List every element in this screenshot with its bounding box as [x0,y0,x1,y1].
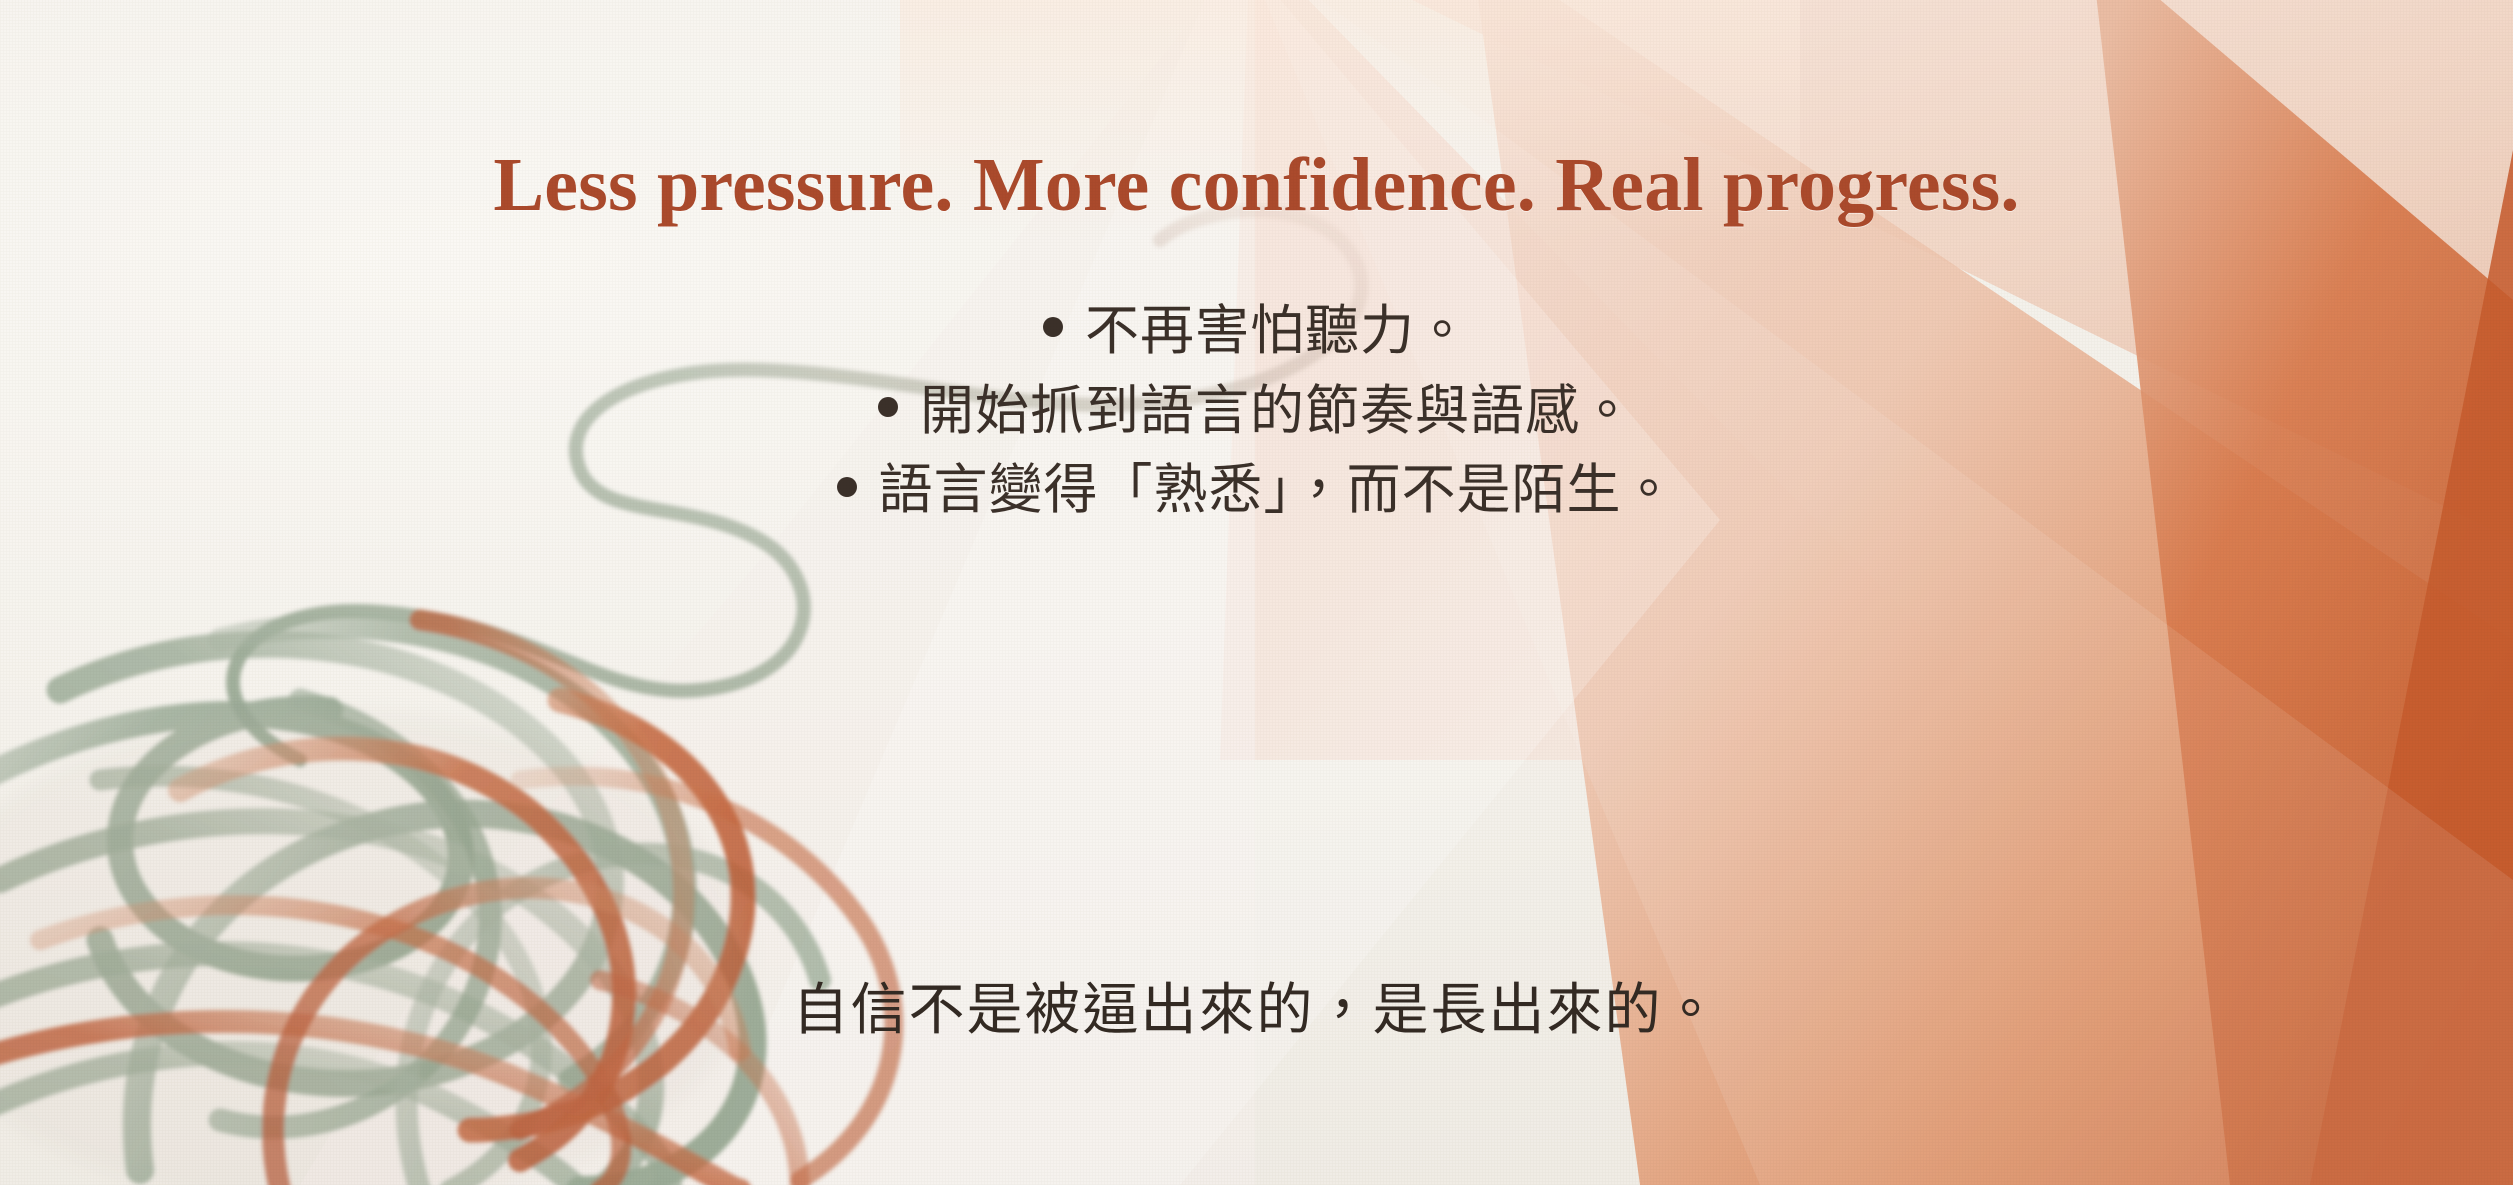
bullet-text: 不再害怕聽力。 [1085,299,1470,362]
page-title: Less pressure. More confidence. Real pro… [0,143,2513,228]
bullet-text: 語言變得「熟悉」，而不是陌生。 [879,458,1677,521]
slide-canvas: Less pressure. More confidence. Real pro… [0,0,2513,1185]
bullet-dot-icon [1043,317,1063,337]
slide-content: Less pressure. More confidence. Real pro… [0,0,2513,1185]
bullet-list: 不再害怕聽力。 開始抓到語言的節奏與語感。 語言變得「熟悉」，而不是陌生。 [0,290,2513,529]
list-item: 開始抓到語言的節奏與語感。 [0,370,2513,450]
list-item: 語言變得「熟悉」，而不是陌生。 [0,449,2513,529]
closing-statement: 自信不是被逼出來的，是長出來的。 [0,975,2513,1048]
bullet-dot-icon [837,477,857,497]
bullet-dot-icon [878,397,898,417]
list-item: 不再害怕聽力。 [0,290,2513,370]
bullet-text: 開始抓到語言的節奏與語感。 [920,379,1635,442]
